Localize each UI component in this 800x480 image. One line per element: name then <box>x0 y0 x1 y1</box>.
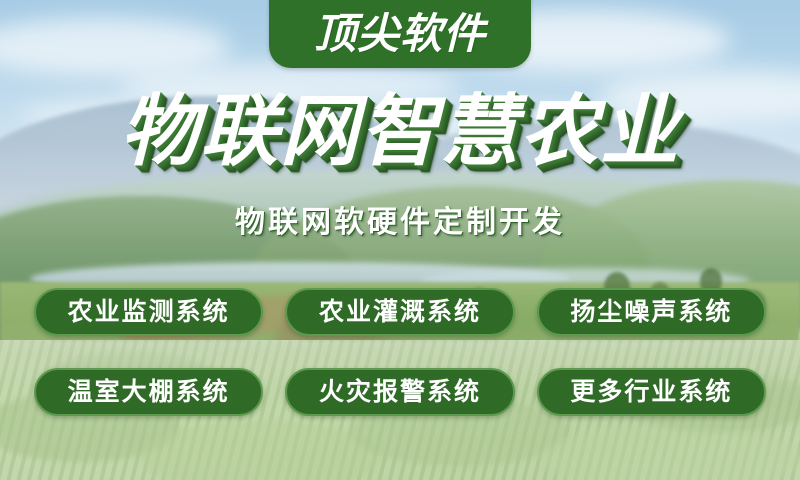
service-pill-fire-alarm[interactable]: 火灾报警系统 <box>285 368 514 416</box>
brand-name-label: 顶尖软件 <box>314 7 486 55</box>
page-subtitle: 物联网软硬件定制开发 <box>0 208 800 238</box>
service-pill-more-industries[interactable]: 更多行业系统 <box>537 368 766 416</box>
brand-badge[interactable]: 顶尖软件 <box>269 0 531 68</box>
service-pill-greenhouse[interactable]: 温室大棚系统 <box>34 368 263 416</box>
banner-content: 顶尖软件 物联网智慧农业 物联网软硬件定制开发 农业监测系统 农业灌溉系统 扬尘… <box>0 0 800 480</box>
iot-smart-agriculture-banner: 顶尖软件 物联网智慧农业 物联网软硬件定制开发 农业监测系统 农业灌溉系统 扬尘… <box>0 0 800 480</box>
service-pill-agriculture-monitoring[interactable]: 农业监测系统 <box>34 288 263 336</box>
service-pill-grid: 农业监测系统 农业灌溉系统 扬尘噪声系统 温室大棚系统 火灾报警系统 更多行业系… <box>34 288 766 416</box>
service-pill-label: 扬尘噪声系统 <box>570 300 732 325</box>
service-pill-label: 火灾报警系统 <box>319 380 481 405</box>
service-pill-agriculture-irrigation[interactable]: 农业灌溉系统 <box>285 288 514 336</box>
service-pill-label: 农业监测系统 <box>68 300 230 325</box>
service-pill-label: 农业灌溉系统 <box>319 300 481 325</box>
page-title: 物联网智慧农业 <box>0 92 800 170</box>
service-pill-dust-noise[interactable]: 扬尘噪声系统 <box>537 288 766 336</box>
service-pill-label: 温室大棚系统 <box>68 380 230 405</box>
service-pill-label: 更多行业系统 <box>570 380 732 405</box>
